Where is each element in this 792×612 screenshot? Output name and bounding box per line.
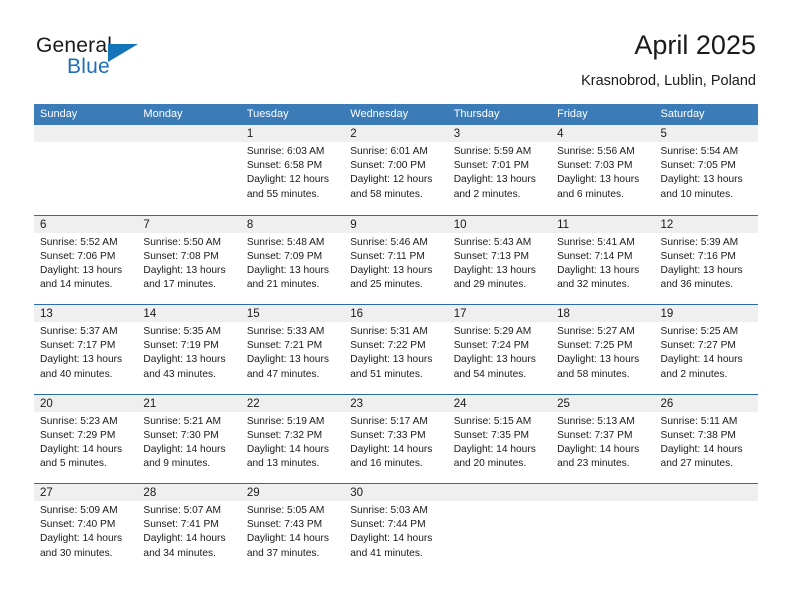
sunset-text: Sunset: 7:03 PM — [557, 159, 650, 173]
day-cell[interactable]: 17Sunrise: 5:29 AMSunset: 7:24 PMDayligh… — [448, 305, 551, 394]
daylight-text: Daylight: 13 hours — [350, 264, 443, 278]
day-number: 1 — [247, 126, 253, 142]
day-number: 30 — [350, 485, 363, 501]
daylight-text: and 13 minutes. — [247, 457, 340, 471]
day-number-band — [551, 125, 654, 142]
sunrise-text: Sunrise: 6:03 AM — [247, 145, 340, 159]
weekday-header-wednesday: Wednesday — [344, 104, 447, 125]
sunset-text: Sunset: 7:44 PM — [350, 518, 443, 532]
sunset-text: Sunset: 7:41 PM — [143, 518, 236, 532]
sunrise-text: Sunrise: 5:21 AM — [143, 415, 236, 429]
day-cell[interactable]: 30Sunrise: 5:03 AMSunset: 7:44 PMDayligh… — [344, 484, 447, 573]
day-details: Sunrise: 5:15 AMSunset: 7:35 PMDaylight:… — [448, 412, 551, 472]
daylight-text: and 21 minutes. — [247, 278, 340, 292]
sunrise-text: Sunrise: 5:11 AM — [661, 415, 754, 429]
day-number-band — [448, 125, 551, 142]
sunrise-text: Sunrise: 5:25 AM — [661, 325, 754, 339]
day-number: 24 — [454, 396, 467, 412]
sunset-text: Sunset: 7:05 PM — [661, 159, 754, 173]
day-details: Sunrise: 5:27 AMSunset: 7:25 PMDaylight:… — [551, 322, 654, 382]
sunrise-text: Sunrise: 5:23 AM — [40, 415, 133, 429]
daylight-text: Daylight: 14 hours — [350, 443, 443, 457]
day-details: Sunrise: 5:03 AMSunset: 7:44 PMDaylight:… — [344, 501, 447, 561]
sunset-text: Sunset: 7:32 PM — [247, 429, 340, 443]
sunrise-text: Sunrise: 5:03 AM — [350, 504, 443, 518]
daylight-text: and 23 minutes. — [557, 457, 650, 471]
daylight-text: Daylight: 13 hours — [661, 173, 754, 187]
sunrise-text: Sunrise: 5:41 AM — [557, 236, 650, 250]
day-number: 27 — [40, 485, 53, 501]
daylight-text: Daylight: 14 hours — [557, 443, 650, 457]
weekday-header-saturday: Saturday — [655, 104, 758, 125]
sunset-text: Sunset: 7:38 PM — [661, 429, 754, 443]
day-number-band — [344, 125, 447, 142]
sunrise-text: Sunrise: 5:27 AM — [557, 325, 650, 339]
day-number-band — [137, 216, 240, 233]
day-cell[interactable]: 21Sunrise: 5:21 AMSunset: 7:30 PMDayligh… — [137, 395, 240, 484]
day-cell[interactable]: 11Sunrise: 5:41 AMSunset: 7:14 PMDayligh… — [551, 216, 654, 305]
daylight-text: Daylight: 13 hours — [247, 353, 340, 367]
sunset-text: Sunset: 7:16 PM — [661, 250, 754, 264]
daylight-text: Daylight: 14 hours — [661, 443, 754, 457]
sunset-text: Sunset: 7:22 PM — [350, 339, 443, 353]
daylight-text: and 58 minutes. — [557, 368, 650, 382]
day-number: 14 — [143, 306, 156, 322]
sunrise-text: Sunrise: 5:59 AM — [454, 145, 547, 159]
day-cell[interactable]: 9Sunrise: 5:46 AMSunset: 7:11 PMDaylight… — [344, 216, 447, 305]
daylight-text: and 25 minutes. — [350, 278, 443, 292]
daylight-text: and 43 minutes. — [143, 368, 236, 382]
daylight-text: Daylight: 14 hours — [40, 443, 133, 457]
sunset-text: Sunset: 7:17 PM — [40, 339, 133, 353]
daylight-text: and 47 minutes. — [247, 368, 340, 382]
daylight-text: and 30 minutes. — [40, 547, 133, 561]
day-cell[interactable]: 13Sunrise: 5:37 AMSunset: 7:17 PMDayligh… — [34, 305, 137, 394]
sunset-text: Sunset: 7:06 PM — [40, 250, 133, 264]
daylight-text: Daylight: 14 hours — [350, 532, 443, 546]
daylight-text: and 58 minutes. — [350, 188, 443, 202]
daylight-text: and 41 minutes. — [350, 547, 443, 561]
day-details: Sunrise: 5:05 AMSunset: 7:43 PMDaylight:… — [241, 501, 344, 561]
sunrise-text: Sunrise: 5:48 AM — [247, 236, 340, 250]
day-number: 28 — [143, 485, 156, 501]
daylight-text: Daylight: 13 hours — [350, 353, 443, 367]
weekday-header-row: SundayMondayTuesdayWednesdayThursdayFrid… — [34, 104, 758, 125]
day-cell[interactable]: 28Sunrise: 5:07 AMSunset: 7:41 PMDayligh… — [137, 484, 240, 573]
page-title: April 2025 — [581, 28, 756, 62]
day-number: 25 — [557, 396, 570, 412]
weekday-header-thursday: Thursday — [448, 104, 551, 125]
daylight-text: Daylight: 14 hours — [143, 532, 236, 546]
daylight-text: and 36 minutes. — [661, 278, 754, 292]
day-cell[interactable]: 12Sunrise: 5:39 AMSunset: 7:16 PMDayligh… — [655, 216, 758, 305]
sunrise-text: Sunrise: 5:54 AM — [661, 145, 754, 159]
day-cell[interactable]: 6Sunrise: 5:52 AMSunset: 7:06 PMDaylight… — [34, 216, 137, 305]
day-details: Sunrise: 5:39 AMSunset: 7:16 PMDaylight:… — [655, 233, 758, 293]
sunrise-text: Sunrise: 5:17 AM — [350, 415, 443, 429]
sunrise-text: Sunrise: 5:07 AM — [143, 504, 236, 518]
calendar-week-row: 6Sunrise: 5:52 AMSunset: 7:06 PMDaylight… — [34, 215, 758, 305]
day-number: 5 — [661, 126, 667, 142]
daylight-text: and 17 minutes. — [143, 278, 236, 292]
day-cell[interactable]: 8Sunrise: 5:48 AMSunset: 7:09 PMDaylight… — [241, 216, 344, 305]
daylight-text: Daylight: 14 hours — [143, 443, 236, 457]
calendar-week-row: 20Sunrise: 5:23 AMSunset: 7:29 PMDayligh… — [34, 394, 758, 484]
daylight-text: and 10 minutes. — [661, 188, 754, 202]
page-header: General Blue April 2025 Krasnobrod, Lubl… — [0, 0, 792, 100]
day-details: Sunrise: 5:33 AMSunset: 7:21 PMDaylight:… — [241, 322, 344, 382]
daylight-text: and 51 minutes. — [350, 368, 443, 382]
sunrise-text: Sunrise: 5:15 AM — [454, 415, 547, 429]
sunset-text: Sunset: 7:19 PM — [143, 339, 236, 353]
daylight-text: and 54 minutes. — [454, 368, 547, 382]
day-number: 19 — [661, 306, 674, 322]
day-number: 17 — [454, 306, 467, 322]
day-number: 12 — [661, 217, 674, 233]
day-details: Sunrise: 5:46 AMSunset: 7:11 PMDaylight:… — [344, 233, 447, 293]
sunset-text: Sunset: 7:29 PM — [40, 429, 133, 443]
daylight-text: and 29 minutes. — [454, 278, 547, 292]
day-details: Sunrise: 5:43 AMSunset: 7:13 PMDaylight:… — [448, 233, 551, 293]
daylight-text: Daylight: 14 hours — [247, 443, 340, 457]
day-number: 8 — [247, 217, 253, 233]
sunrise-text: Sunrise: 5:43 AM — [454, 236, 547, 250]
day-details: Sunrise: 5:59 AMSunset: 7:01 PMDaylight:… — [448, 142, 551, 202]
day-cell[interactable]: 3Sunrise: 5:59 AMSunset: 7:01 PMDaylight… — [448, 125, 551, 215]
day-details: Sunrise: 5:31 AMSunset: 7:22 PMDaylight:… — [344, 322, 447, 382]
daylight-text: Daylight: 13 hours — [247, 264, 340, 278]
day-details: Sunrise: 5:21 AMSunset: 7:30 PMDaylight:… — [137, 412, 240, 472]
day-number: 15 — [247, 306, 260, 322]
calendar-page: General Blue April 2025 Krasnobrod, Lubl… — [0, 0, 792, 612]
day-cell[interactable]: 23Sunrise: 5:17 AMSunset: 7:33 PMDayligh… — [344, 395, 447, 484]
day-number-band — [241, 216, 344, 233]
day-cell[interactable]: 16Sunrise: 5:31 AMSunset: 7:22 PMDayligh… — [344, 305, 447, 394]
day-details: Sunrise: 5:37 AMSunset: 7:17 PMDaylight:… — [34, 322, 137, 382]
day-number: 26 — [661, 396, 674, 412]
calendar-week-row: 13Sunrise: 5:37 AMSunset: 7:17 PMDayligh… — [34, 304, 758, 394]
day-details: Sunrise: 5:09 AMSunset: 7:40 PMDaylight:… — [34, 501, 137, 561]
weekday-header-tuesday: Tuesday — [241, 104, 344, 125]
title-block: April 2025 Krasnobrod, Lublin, Poland — [581, 28, 756, 91]
day-details: Sunrise: 5:19 AMSunset: 7:32 PMDaylight:… — [241, 412, 344, 472]
brand-name-blue: Blue — [67, 55, 110, 79]
calendar-week-row: 1Sunrise: 6:03 AMSunset: 6:58 PMDaylight… — [34, 125, 758, 215]
sunrise-text: Sunrise: 5:05 AM — [247, 504, 340, 518]
sunset-text: Sunset: 7:01 PM — [454, 159, 547, 173]
sunrise-text: Sunrise: 5:56 AM — [557, 145, 650, 159]
daylight-text: Daylight: 14 hours — [40, 532, 133, 546]
day-cell[interactable]: 2Sunrise: 6:01 AMSunset: 7:00 PMDaylight… — [344, 125, 447, 215]
day-number-band — [448, 484, 551, 501]
daylight-text: Daylight: 13 hours — [40, 264, 133, 278]
daylight-text: Daylight: 13 hours — [143, 353, 236, 367]
daylight-text: and 16 minutes. — [350, 457, 443, 471]
day-cell[interactable]: 29Sunrise: 5:05 AMSunset: 7:43 PMDayligh… — [241, 484, 344, 573]
day-cell[interactable]: 1Sunrise: 6:03 AMSunset: 6:58 PMDaylight… — [241, 125, 344, 215]
sunrise-text: Sunrise: 5:29 AM — [454, 325, 547, 339]
day-cell[interactable]: 24Sunrise: 5:15 AMSunset: 7:35 PMDayligh… — [448, 395, 551, 484]
day-number: 23 — [350, 396, 363, 412]
day-details: Sunrise: 6:01 AMSunset: 7:00 PMDaylight:… — [344, 142, 447, 202]
day-details: Sunrise: 6:03 AMSunset: 6:58 PMDaylight:… — [241, 142, 344, 202]
day-number: 22 — [247, 396, 260, 412]
day-number: 16 — [350, 306, 363, 322]
day-cell[interactable]: 10Sunrise: 5:43 AMSunset: 7:13 PMDayligh… — [448, 216, 551, 305]
day-cell[interactable]: 15Sunrise: 5:33 AMSunset: 7:21 PMDayligh… — [241, 305, 344, 394]
day-details: Sunrise: 5:25 AMSunset: 7:27 PMDaylight:… — [655, 322, 758, 382]
sunrise-text: Sunrise: 5:33 AM — [247, 325, 340, 339]
day-details: Sunrise: 5:54 AMSunset: 7:05 PMDaylight:… — [655, 142, 758, 202]
day-number: 10 — [454, 217, 467, 233]
day-cell[interactable]: 18Sunrise: 5:27 AMSunset: 7:25 PMDayligh… — [551, 305, 654, 394]
day-number: 13 — [40, 306, 53, 322]
day-cell[interactable]: 26Sunrise: 5:11 AMSunset: 7:38 PMDayligh… — [655, 395, 758, 484]
daylight-text: Daylight: 14 hours — [661, 353, 754, 367]
day-details: Sunrise: 5:07 AMSunset: 7:41 PMDaylight:… — [137, 501, 240, 561]
day-number-band — [34, 216, 137, 233]
day-number-band — [655, 125, 758, 142]
daylight-text: and 32 minutes. — [557, 278, 650, 292]
daylight-text: and 20 minutes. — [454, 457, 547, 471]
daylight-text: Daylight: 13 hours — [454, 264, 547, 278]
day-cell[interactable]: 5Sunrise: 5:54 AMSunset: 7:05 PMDaylight… — [655, 125, 758, 215]
sunrise-text: Sunrise: 6:01 AM — [350, 145, 443, 159]
day-details: Sunrise: 5:11 AMSunset: 7:38 PMDaylight:… — [655, 412, 758, 472]
weekday-header-sunday: Sunday — [34, 104, 137, 125]
daylight-text: Daylight: 13 hours — [40, 353, 133, 367]
day-details: Sunrise: 5:48 AMSunset: 7:09 PMDaylight:… — [241, 233, 344, 293]
day-cell-empty — [655, 484, 758, 573]
daylight-text: and 2 minutes. — [661, 368, 754, 382]
daylight-text: Daylight: 13 hours — [454, 173, 547, 187]
daylight-text: Daylight: 13 hours — [557, 353, 650, 367]
sunrise-text: Sunrise: 5:09 AM — [40, 504, 133, 518]
day-details: Sunrise: 5:13 AMSunset: 7:37 PMDaylight:… — [551, 412, 654, 472]
day-number: 29 — [247, 485, 260, 501]
sunset-text: Sunset: 7:14 PM — [557, 250, 650, 264]
daylight-text: and 9 minutes. — [143, 457, 236, 471]
daylight-text: Daylight: 12 hours — [247, 173, 340, 187]
sunset-text: Sunset: 7:13 PM — [454, 250, 547, 264]
day-details: Sunrise: 5:52 AMSunset: 7:06 PMDaylight:… — [34, 233, 137, 293]
sunrise-text: Sunrise: 5:52 AM — [40, 236, 133, 250]
daylight-text: Daylight: 14 hours — [454, 443, 547, 457]
triangle-flag-icon — [108, 44, 138, 62]
sunrise-text: Sunrise: 5:50 AM — [143, 236, 236, 250]
brand-logo[interactable]: General Blue — [36, 34, 216, 84]
day-number: 2 — [350, 126, 356, 142]
daylight-text: and 37 minutes. — [247, 547, 340, 561]
day-details: Sunrise: 5:29 AMSunset: 7:24 PMDaylight:… — [448, 322, 551, 382]
day-details: Sunrise: 5:50 AMSunset: 7:08 PMDaylight:… — [137, 233, 240, 293]
daylight-text: and 34 minutes. — [143, 547, 236, 561]
daylight-text: and 5 minutes. — [40, 457, 133, 471]
day-cell[interactable]: 7Sunrise: 5:50 AMSunset: 7:08 PMDaylight… — [137, 216, 240, 305]
day-details: Sunrise: 5:56 AMSunset: 7:03 PMDaylight:… — [551, 142, 654, 202]
sunset-text: Sunset: 7:27 PM — [661, 339, 754, 353]
day-details: Sunrise: 5:17 AMSunset: 7:33 PMDaylight:… — [344, 412, 447, 472]
page-subtitle: Krasnobrod, Lublin, Poland — [581, 71, 756, 91]
daylight-text: Daylight: 13 hours — [143, 264, 236, 278]
sunrise-text: Sunrise: 5:19 AM — [247, 415, 340, 429]
daylight-text: and 6 minutes. — [557, 188, 650, 202]
daylight-text: Daylight: 13 hours — [454, 353, 547, 367]
day-number: 4 — [557, 126, 563, 142]
sunset-text: Sunset: 7:37 PM — [557, 429, 650, 443]
day-number: 21 — [143, 396, 156, 412]
day-number-band — [551, 484, 654, 501]
sunset-text: Sunset: 7:33 PM — [350, 429, 443, 443]
day-cell-empty — [448, 484, 551, 573]
day-number: 7 — [143, 217, 149, 233]
day-cell[interactable]: 19Sunrise: 5:25 AMSunset: 7:27 PMDayligh… — [655, 305, 758, 394]
daylight-text: and 27 minutes. — [661, 457, 754, 471]
sunset-text: Sunset: 7:43 PM — [247, 518, 340, 532]
daylight-text: Daylight: 12 hours — [350, 173, 443, 187]
sunset-text: Sunset: 7:25 PM — [557, 339, 650, 353]
day-details: Sunrise: 5:41 AMSunset: 7:14 PMDaylight:… — [551, 233, 654, 293]
daylight-text: and 40 minutes. — [40, 368, 133, 382]
day-details: Sunrise: 5:35 AMSunset: 7:19 PMDaylight:… — [137, 322, 240, 382]
weekday-header-friday: Friday — [551, 104, 654, 125]
day-cell[interactable]: 20Sunrise: 5:23 AMSunset: 7:29 PMDayligh… — [34, 395, 137, 484]
day-cell[interactable]: 25Sunrise: 5:13 AMSunset: 7:37 PMDayligh… — [551, 395, 654, 484]
day-cell[interactable]: 14Sunrise: 5:35 AMSunset: 7:19 PMDayligh… — [137, 305, 240, 394]
daylight-text: Daylight: 14 hours — [247, 532, 340, 546]
calendar-grid: SundayMondayTuesdayWednesdayThursdayFrid… — [34, 104, 758, 573]
day-cell-empty — [137, 125, 240, 215]
day-number: 3 — [454, 126, 460, 142]
daylight-text: Daylight: 13 hours — [557, 264, 650, 278]
sunset-text: Sunset: 7:35 PM — [454, 429, 547, 443]
day-number: 9 — [350, 217, 356, 233]
day-cell[interactable]: 27Sunrise: 5:09 AMSunset: 7:40 PMDayligh… — [34, 484, 137, 573]
sunset-text: Sunset: 7:40 PM — [40, 518, 133, 532]
day-details: Sunrise: 5:23 AMSunset: 7:29 PMDaylight:… — [34, 412, 137, 472]
day-cell-empty — [551, 484, 654, 573]
sunrise-text: Sunrise: 5:39 AM — [661, 236, 754, 250]
daylight-text: Daylight: 13 hours — [661, 264, 754, 278]
sunset-text: Sunset: 6:58 PM — [247, 159, 340, 173]
day-number-band — [137, 125, 240, 142]
day-number: 18 — [557, 306, 570, 322]
day-number-band — [655, 484, 758, 501]
daylight-text: and 55 minutes. — [247, 188, 340, 202]
sunrise-text: Sunrise: 5:37 AM — [40, 325, 133, 339]
day-number-band — [344, 216, 447, 233]
calendar-weeks: 1Sunrise: 6:03 AMSunset: 6:58 PMDaylight… — [34, 125, 758, 573]
day-number: 6 — [40, 217, 46, 233]
sunset-text: Sunset: 7:24 PM — [454, 339, 547, 353]
sunset-text: Sunset: 7:21 PM — [247, 339, 340, 353]
sunrise-text: Sunrise: 5:35 AM — [143, 325, 236, 339]
sunrise-text: Sunrise: 5:46 AM — [350, 236, 443, 250]
sunset-text: Sunset: 7:11 PM — [350, 250, 443, 264]
daylight-text: and 2 minutes. — [454, 188, 547, 202]
day-cell[interactable]: 22Sunrise: 5:19 AMSunset: 7:32 PMDayligh… — [241, 395, 344, 484]
sunrise-text: Sunrise: 5:31 AM — [350, 325, 443, 339]
sunset-text: Sunset: 7:00 PM — [350, 159, 443, 173]
sunrise-text: Sunrise: 5:13 AM — [557, 415, 650, 429]
sunset-text: Sunset: 7:09 PM — [247, 250, 340, 264]
day-number-band — [34, 125, 137, 142]
day-number-band — [241, 125, 344, 142]
sunset-text: Sunset: 7:30 PM — [143, 429, 236, 443]
day-cell-empty — [34, 125, 137, 215]
weekday-header-monday: Monday — [137, 104, 240, 125]
day-number: 20 — [40, 396, 53, 412]
sunset-text: Sunset: 7:08 PM — [143, 250, 236, 264]
calendar-week-row: 27Sunrise: 5:09 AMSunset: 7:40 PMDayligh… — [34, 483, 758, 573]
day-number: 11 — [557, 217, 569, 233]
daylight-text: Daylight: 13 hours — [557, 173, 650, 187]
daylight-text: and 14 minutes. — [40, 278, 133, 292]
day-cell[interactable]: 4Sunrise: 5:56 AMSunset: 7:03 PMDaylight… — [551, 125, 654, 215]
